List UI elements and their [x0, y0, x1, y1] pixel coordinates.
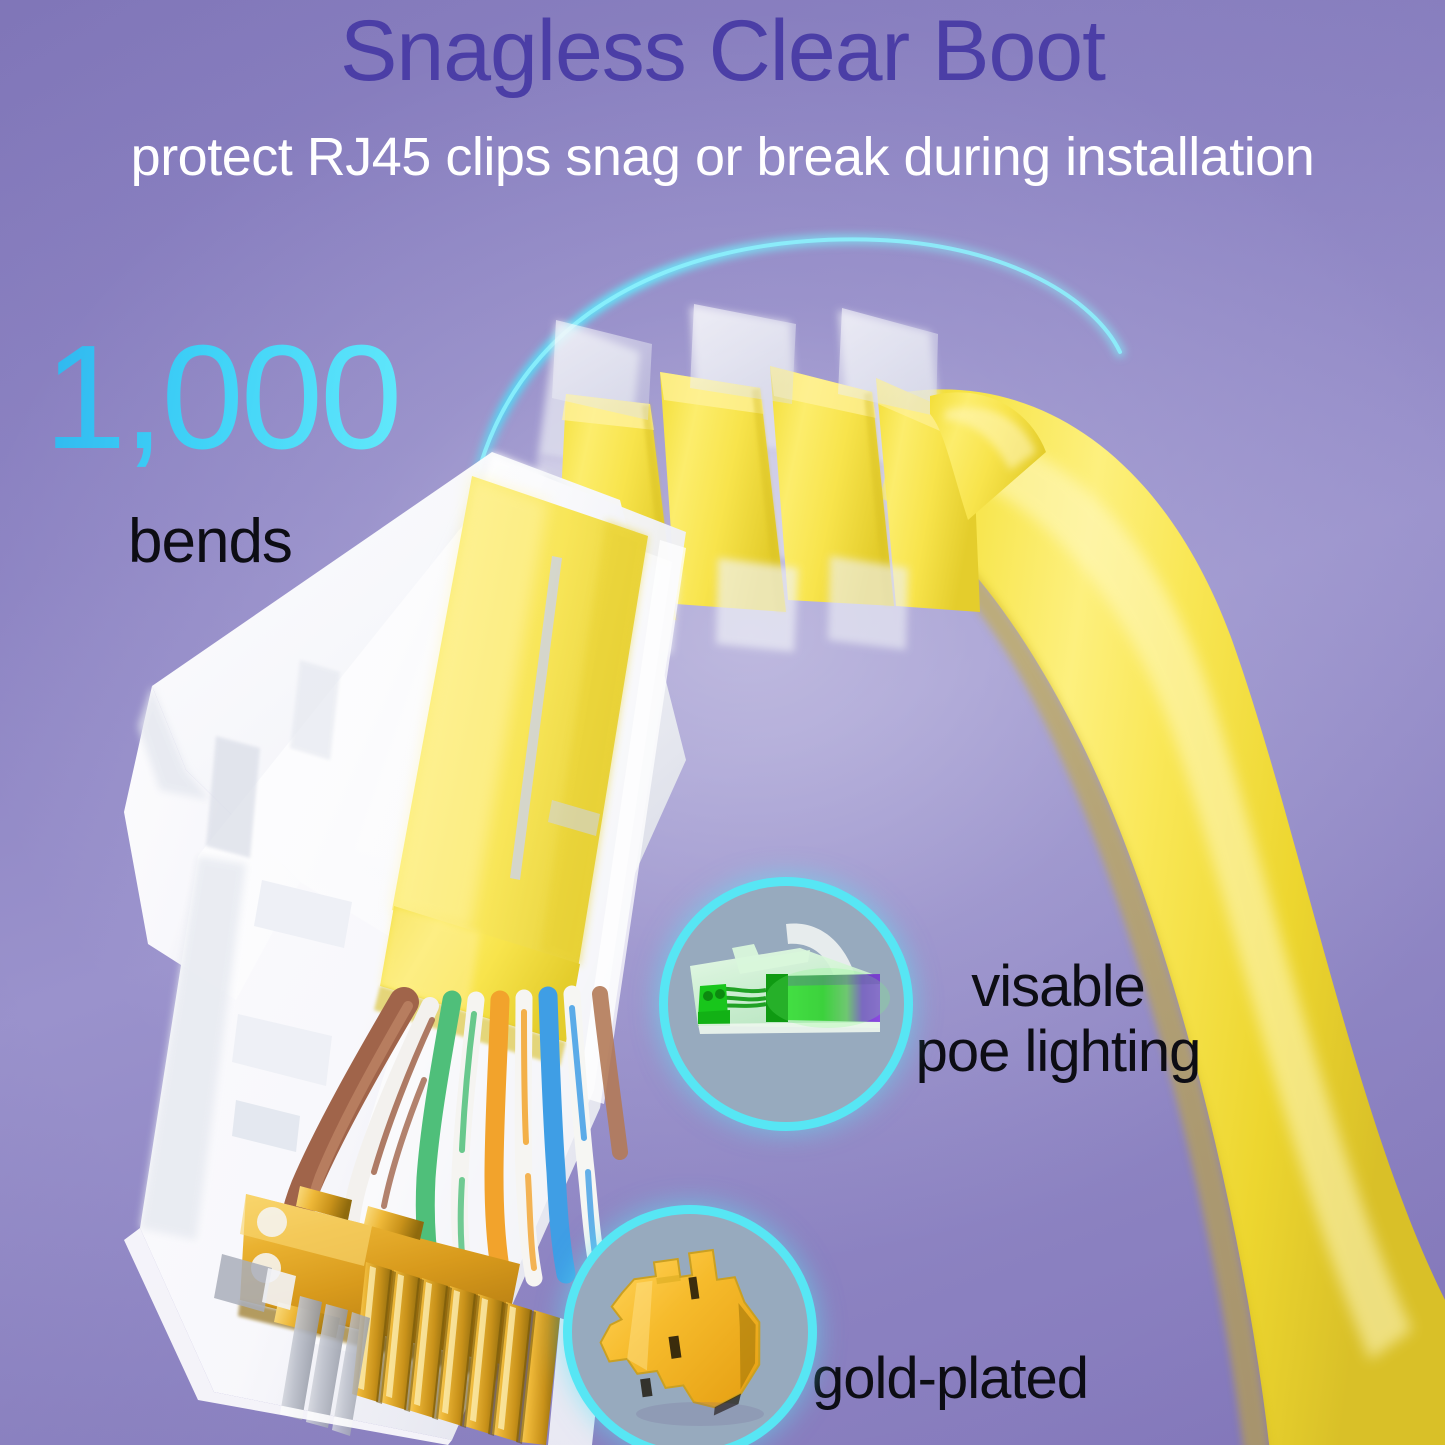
infographic-canvas: Snagless Clear Boot protect RJ45 clips s… — [0, 0, 1445, 1445]
callout-gold-label: gold-plated — [812, 1345, 1088, 1412]
page-title: Snagless Clear Boot — [0, 6, 1445, 97]
callout-poe-line1: visable — [893, 955, 1223, 1020]
gold-contact-pin-icon — [572, 1214, 808, 1445]
callout-poe-line2: poe lighting — [893, 1020, 1223, 1085]
rj45-connector-glowing-icon — [668, 886, 904, 1122]
bend-count-label: bends — [128, 506, 292, 577]
callout-poe-label: visable poe lighting — [893, 955, 1223, 1085]
bend-count-value: 1,000 — [44, 324, 399, 472]
page-subtitle: protect RJ45 clips snag or break during … — [0, 126, 1445, 188]
